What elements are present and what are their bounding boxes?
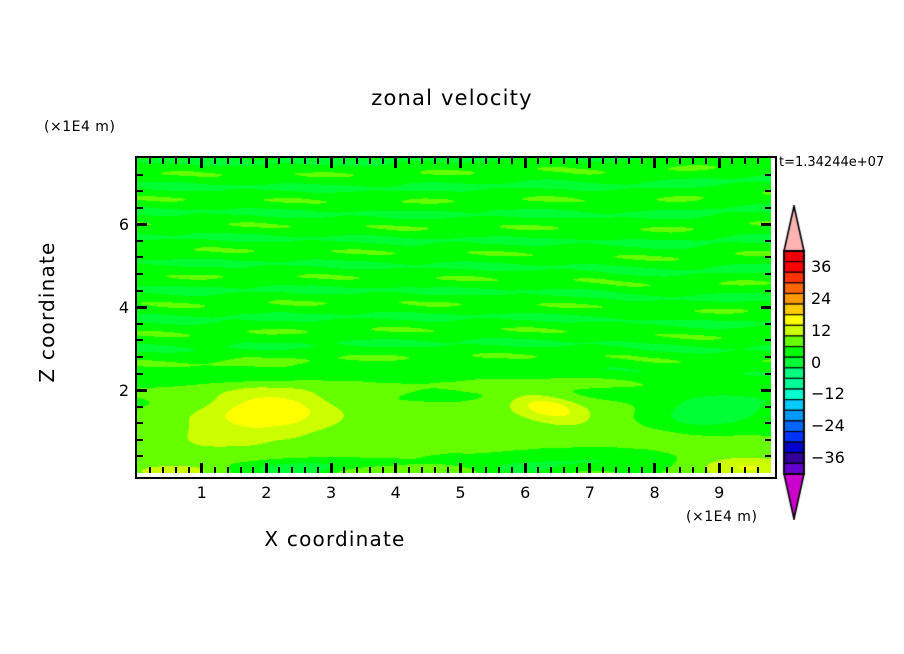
x-axis-tick — [705, 467, 707, 473]
x-axis-tick — [498, 467, 500, 473]
x-axis-tick — [459, 463, 462, 473]
x-axis-tick — [718, 463, 721, 473]
x-axis-tick-label: 6 — [505, 483, 545, 502]
x-axis-tick-top — [641, 158, 643, 164]
x-axis-tick-top — [394, 158, 397, 168]
y-axis-tick-right — [765, 256, 771, 258]
y-axis-tick — [137, 290, 143, 292]
x-axis-tick-top — [550, 158, 552, 164]
x-axis-tick — [382, 467, 384, 473]
x-axis-tick-top — [278, 158, 280, 164]
x-axis-tick — [162, 467, 164, 473]
x-axis-tick — [408, 467, 410, 473]
x-axis-tick-top — [227, 158, 229, 164]
x-axis-tick — [434, 467, 436, 473]
x-axis-tick — [550, 467, 552, 473]
x-axis-tick — [628, 467, 630, 473]
x-axis-tick — [394, 463, 397, 473]
y-axis-tick — [137, 223, 147, 226]
y-axis-tick-right — [765, 273, 771, 275]
y-axis-tick-right — [765, 207, 771, 209]
y-axis-tick-right — [761, 223, 771, 226]
y-axis-tick — [137, 373, 143, 375]
y-axis-tick — [137, 306, 147, 309]
x-axis-tick — [576, 467, 578, 473]
x-axis-tick — [744, 467, 746, 473]
x-axis-tick-top — [200, 158, 203, 168]
x-axis-tick — [731, 467, 733, 473]
x-axis-tick — [692, 467, 694, 473]
x-axis-tick-top — [330, 158, 333, 168]
x-axis-tick-top — [511, 158, 513, 164]
x-axis-tick-top — [537, 158, 539, 164]
x-axis-tick-top — [265, 158, 268, 168]
x-axis-tick-top — [162, 158, 164, 164]
time-annotation: t=1.34244e+07 — [779, 155, 884, 170]
y-axis-tick-right — [765, 339, 771, 341]
y-axis-tick-right — [765, 439, 771, 441]
x-axis-tick — [511, 467, 513, 473]
x-axis-tick-top — [408, 158, 410, 164]
x-axis-tick-top — [434, 158, 436, 164]
x-axis-tick — [175, 467, 177, 473]
x-axis-tick-top — [317, 158, 319, 164]
x-axis-tick-top — [666, 158, 668, 164]
y-axis-tick — [137, 389, 147, 392]
x-axis-tick — [653, 463, 656, 473]
x-axis-tick — [278, 467, 280, 473]
colorbar-tick-label: −36 — [811, 448, 845, 467]
y-axis-tick — [137, 339, 143, 341]
x-axis-tick-label: 3 — [311, 483, 351, 502]
x-axis-tick — [317, 467, 319, 473]
colorbar-tick-label: 12 — [811, 321, 831, 340]
x-axis-tick-top — [731, 158, 733, 164]
x-axis-tick-top — [602, 158, 604, 164]
x-axis-tick — [679, 467, 681, 473]
x-axis-tick-top — [705, 158, 707, 164]
y-axis-tick-right — [765, 174, 771, 176]
x-axis-tick — [615, 467, 617, 473]
x-axis-tick-top — [588, 158, 591, 168]
x-axis-tick-top — [679, 158, 681, 164]
x-axis-tick-top — [343, 158, 345, 164]
y-axis-tick-right — [765, 406, 771, 408]
x-axis-tick — [252, 467, 254, 473]
x-axis-tick — [149, 467, 151, 473]
colorbar-tick-label: 36 — [811, 257, 831, 276]
colorbar-tick-label: 0 — [811, 353, 821, 372]
x-axis-title: X coordinate — [0, 527, 670, 551]
y-axis-tick-right — [761, 389, 771, 392]
x-axis-tick-top — [240, 158, 242, 164]
x-axis-tick — [265, 463, 268, 473]
x-axis-tick-top — [615, 158, 617, 164]
x-axis-tick-label: 8 — [635, 483, 675, 502]
x-axis-tick — [188, 467, 190, 473]
x-axis-tick — [421, 467, 423, 473]
y-axis-tick-right — [765, 240, 771, 242]
y-axis-tick-right — [765, 190, 771, 192]
x-axis-tick — [666, 467, 668, 473]
x-axis-tick-top — [757, 158, 759, 164]
x-axis-tick — [524, 463, 527, 473]
y-axis-tick — [137, 323, 143, 325]
y-axis-tick-right — [765, 422, 771, 424]
x-axis-tick-top — [356, 158, 358, 164]
x-axis-tick-top — [472, 158, 474, 164]
y-axis-tick — [137, 406, 143, 408]
colorbar-tick-label: −24 — [811, 416, 845, 435]
y-axis-tick — [137, 190, 143, 192]
x-axis-tick-top — [563, 158, 565, 164]
y-axis-tick-label: 6 — [89, 215, 129, 234]
x-axis-tick-top — [369, 158, 371, 164]
x-axis-tick-top — [304, 158, 306, 164]
x-axis-tick — [472, 467, 474, 473]
x-axis-tick-top — [175, 158, 177, 164]
x-axis-tick-top — [524, 158, 527, 168]
y-axis-tick-label: 4 — [89, 298, 129, 317]
y-axis-tick — [137, 174, 143, 176]
x-axis-tick-top — [459, 158, 462, 168]
chart-title: zonal velocity — [0, 86, 904, 110]
x-axis-tick-top — [291, 158, 293, 164]
y-axis-tick-label: 2 — [89, 381, 129, 400]
x-axis-tick — [588, 463, 591, 473]
x-axis-tick-label: 5 — [440, 483, 480, 502]
x-axis-tick — [291, 467, 293, 473]
x-axis-tick-label: 7 — [570, 483, 610, 502]
x-axis-tick — [304, 467, 306, 473]
y-axis-title: Z coordinate — [35, 202, 59, 422]
x-axis-tick — [356, 467, 358, 473]
y-axis-tick-right — [765, 290, 771, 292]
x-axis-tick-top — [214, 158, 216, 164]
x-axis-tick-label: 2 — [246, 483, 286, 502]
chart-root: zonal velocity (×1E4 m) (×1E4 m) t=1.342… — [0, 0, 904, 654]
x-axis-tick-top — [252, 158, 254, 164]
y-axis-tick-right — [765, 356, 771, 358]
x-axis-tick — [641, 467, 643, 473]
x-axis-tick — [227, 467, 229, 473]
colorbar-canvas — [780, 205, 810, 520]
x-axis-tick-top — [485, 158, 487, 164]
x-axis-tick-top — [447, 158, 449, 164]
x-axis-tick — [602, 467, 604, 473]
y-axis-tick — [137, 439, 143, 441]
x-axis-tick-top — [653, 158, 656, 168]
x-axis-tick — [200, 463, 203, 473]
y-axis-tick — [137, 422, 143, 424]
x-axis-tick-top — [692, 158, 694, 164]
x-axis-tick — [485, 467, 487, 473]
x-axis-tick-top — [421, 158, 423, 164]
x-axis-tick-top — [382, 158, 384, 164]
x-axis-tick — [369, 467, 371, 473]
y-axis-tick-right — [765, 373, 771, 375]
x-axis-tick — [757, 467, 759, 473]
plot-frame — [135, 156, 777, 479]
x-axis-tick — [447, 467, 449, 473]
x-axis-tick-top — [149, 158, 151, 164]
colorbar: 3624120−12−24−36 — [780, 205, 900, 520]
y-axis-tick-right — [765, 455, 771, 457]
x-axis-tick-top — [576, 158, 578, 164]
y-axis-tick — [137, 207, 143, 209]
x-axis-tick-top — [498, 158, 500, 164]
x-axis-tick-label: 1 — [182, 483, 222, 502]
x-axis-tick-top — [718, 158, 721, 168]
y-axis-tick — [137, 240, 143, 242]
x-axis-tick-top — [628, 158, 630, 164]
y-axis-tick-right — [765, 323, 771, 325]
x-axis-unit-label: (×1E4 m) — [686, 509, 757, 525]
x-axis-tick-top — [744, 158, 746, 164]
x-axis-tick — [563, 467, 565, 473]
x-axis-tick — [537, 467, 539, 473]
x-axis-tick-top — [188, 158, 190, 164]
x-axis-tick-label: 4 — [376, 483, 416, 502]
colorbar-tick-label: 24 — [811, 289, 831, 308]
colorbar-tick-label: −12 — [811, 384, 845, 403]
y-axis-tick — [137, 256, 143, 258]
x-axis-tick — [214, 467, 216, 473]
y-axis-tick — [137, 273, 143, 275]
y-axis-tick-right — [761, 306, 771, 309]
x-axis-tick — [240, 467, 242, 473]
x-axis-tick-label: 9 — [699, 483, 739, 502]
y-axis-unit-label: (×1E4 m) — [44, 119, 115, 135]
x-axis-tick — [330, 463, 333, 473]
y-axis-tick — [137, 455, 143, 457]
y-axis-tick — [137, 356, 143, 358]
x-axis-tick — [343, 467, 345, 473]
